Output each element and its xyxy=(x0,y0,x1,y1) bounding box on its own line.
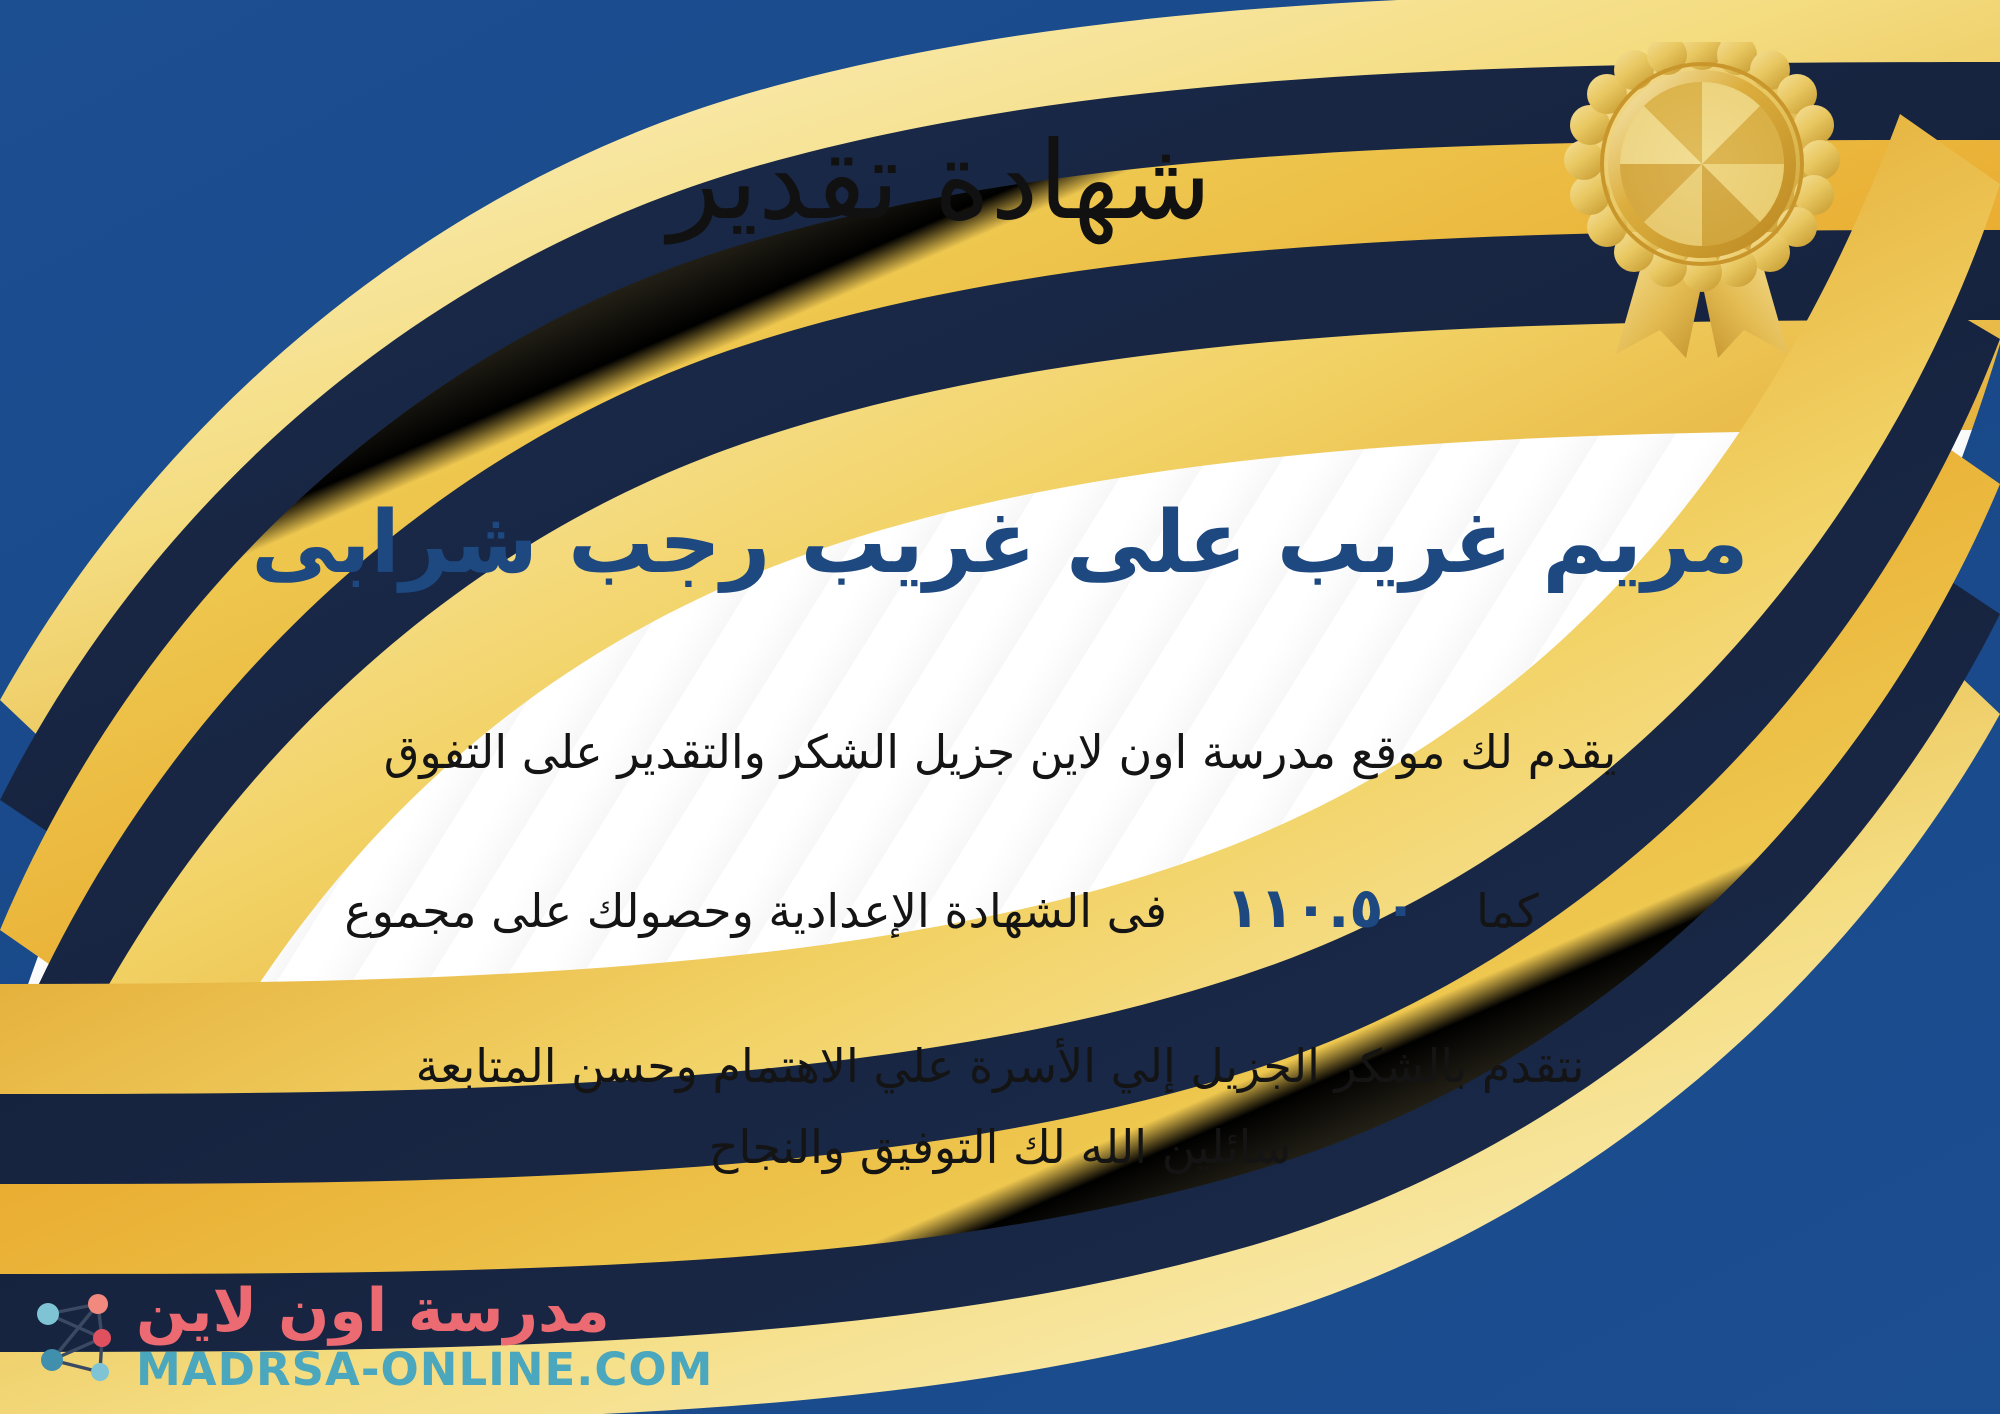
score-value: ١١٠.٥٠ xyxy=(1225,876,1417,941)
body-line-2: كما ١١٠.٥٠ فى الشهادة الإعدادية وحصولك ع… xyxy=(120,790,1880,1030)
body-line-2-suffix: كما xyxy=(1476,884,1539,938)
closing-line: سائلين الله لك التوفيق والنجاح xyxy=(0,1120,2000,1174)
recipient-name: مريم غريب على غريب رجب شرابى xyxy=(0,492,2000,595)
body-line-3: نتقدم بالشكر الجزيل إلي الأسرة علي الاهت… xyxy=(120,1029,1880,1104)
gold-award-rosette-icon xyxy=(1552,42,1852,362)
brand-arabic-name: مدرسة اون لاين xyxy=(136,1281,610,1341)
body-line-2-prefix: فى الشهادة الإعدادية وحصولك على مجموع xyxy=(344,884,1167,938)
network-nodes-icon xyxy=(26,1286,122,1388)
body-line-1: يقدم لك موقع مدرسة اون لاين جزيل الشكر و… xyxy=(120,715,1880,790)
rosette-facets xyxy=(1620,82,1784,246)
brand-logo[interactable]: مدرسة اون لاين MADRSA-ONLINE.COM xyxy=(26,1281,713,1392)
certificate-body: يقدم لك موقع مدرسة اون لاين جزيل الشكر و… xyxy=(0,715,2000,1104)
brand-website: MADRSA-ONLINE.COM xyxy=(136,1347,713,1392)
certificate-canvas: شهادة تقدير مريم غريب على غريب رجب شرابى… xyxy=(0,0,2000,1414)
